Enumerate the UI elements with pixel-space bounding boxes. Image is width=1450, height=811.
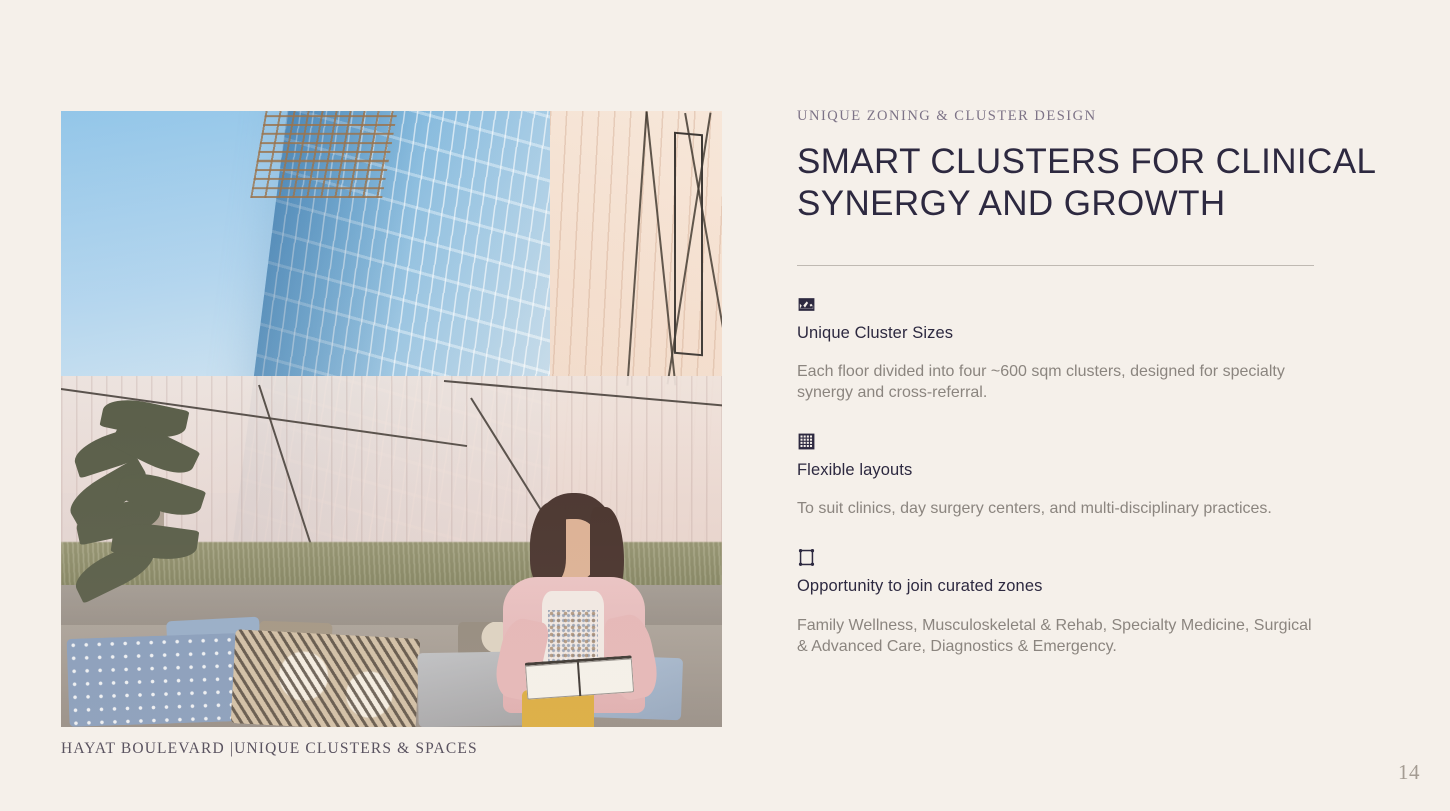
building-grid-icon	[797, 432, 816, 451]
cushion-patterned	[231, 629, 421, 727]
slide-content: UNIQUE ZONING & CLUSTER DESIGN SMART CLU…	[797, 108, 1314, 657]
selection-frame-icon	[797, 548, 816, 567]
person-reading	[471, 493, 669, 727]
section-kicker: UNIQUE ZONING & CLUSTER DESIGN	[797, 108, 1314, 125]
feature-title: Unique Cluster Sizes	[797, 323, 1314, 344]
cushion-polka-dot	[66, 633, 241, 727]
facade-frame	[674, 132, 703, 356]
image-mountain-icon	[797, 295, 816, 314]
feature-description: Each floor divided into four ~600 sqm cl…	[797, 362, 1314, 404]
headline-line-1: SMART CLUSTERS FOR CLINICAL	[797, 141, 1314, 183]
tower-scaffold	[251, 111, 401, 197]
feature-item-unique-cluster-sizes: Unique Cluster Sizes Each floor divided …	[797, 295, 1314, 404]
hero-image-artwork	[61, 111, 722, 727]
presentation-slide: HAYAT BOULEVARD |UNIQUE CLUSTERS & SPACE…	[0, 0, 1450, 811]
feature-title: Flexible layouts	[797, 460, 1314, 481]
feature-item-curated-zones: Opportunity to join curated zones Family…	[797, 548, 1314, 657]
page-number: 14	[1398, 760, 1420, 785]
horizontal-divider	[797, 265, 1314, 266]
headline-line-2: SYNERGY AND GROWTH	[797, 183, 1314, 225]
person-hair-front	[530, 502, 566, 582]
feature-list: Unique Cluster Sizes Each floor divided …	[797, 295, 1314, 657]
feature-description: To suit clinics, day surgery centers, an…	[797, 499, 1314, 520]
slide-footer-caption: HAYAT BOULEVARD |UNIQUE CLUSTERS & SPACE…	[61, 740, 478, 758]
hero-image	[61, 111, 722, 727]
feature-title: Opportunity to join curated zones	[797, 576, 1314, 597]
potted-plant	[68, 407, 253, 629]
page-title: SMART CLUSTERS FOR CLINICAL SYNERGY AND …	[797, 141, 1314, 225]
feature-item-flexible-layouts: Flexible layouts To suit clinics, day su…	[797, 432, 1314, 520]
feature-description: Family Wellness, Musculoskeletal & Rehab…	[797, 616, 1314, 658]
